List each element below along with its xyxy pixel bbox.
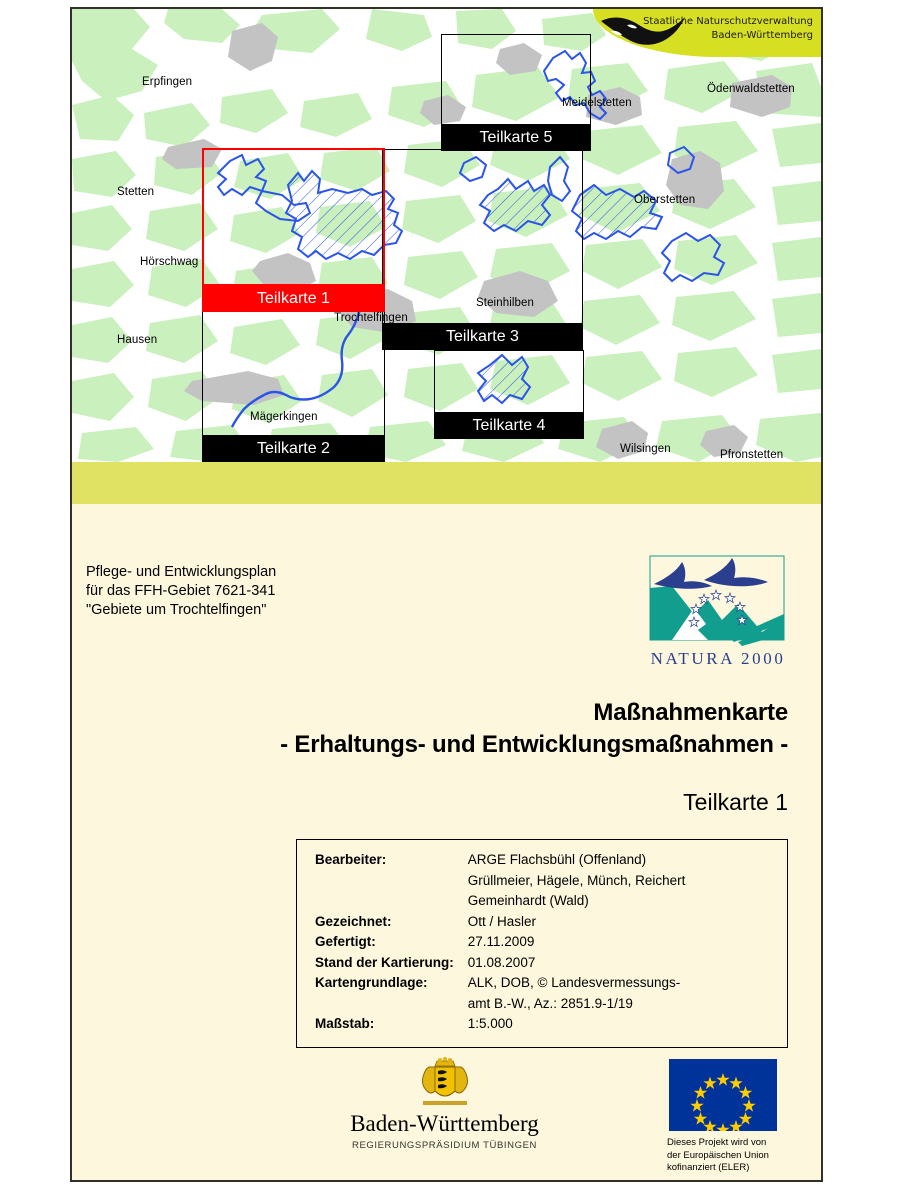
meta-value: ARGE Flachsbühl (Offenland) Grüllmeier, … (468, 850, 686, 912)
map-sheet: Erpfingen Stetten Hörschwag Hausen Troch… (70, 7, 823, 1182)
page-subtitle: - Erhaltungs- und Entwicklungsmaßnahmen … (72, 729, 788, 761)
natura-2000-logo: NATURA 2000 (642, 552, 794, 677)
place-label: Wilsingen (620, 443, 671, 455)
meta-key: Kartengrundlage: (315, 973, 468, 1014)
banner-line-2: Baden-Württemberg (643, 29, 813, 43)
meta-value: 27.11.2009 (468, 932, 686, 953)
meta-value: Ott / Hasler (468, 912, 686, 933)
eu-stars (669, 1059, 777, 1131)
agency-banner: Staatliche Naturschutzverwaltung Baden-W… (593, 9, 821, 57)
overview-map[interactable]: Erpfingen Stetten Hörschwag Hausen Troch… (72, 9, 821, 462)
eu-flag-icon (669, 1059, 777, 1131)
sheet-number: Teilkarte 1 (72, 787, 788, 817)
place-label: Oberstetten (634, 194, 695, 206)
legend-info-box: Bearbeiter: ARGE Flachsbühl (Offenland) … (296, 839, 788, 1048)
place-label: Ödenwaldstetten (707, 83, 795, 95)
natura-wordmark: NATURA 2000 (651, 649, 786, 668)
inset-frame-teilkarte-3[interactable] (382, 149, 583, 324)
meta-key: Gefertigt: (315, 932, 468, 953)
inset-caption-teilkarte-4[interactable]: Teilkarte 4 (434, 413, 584, 439)
table-row: Bearbeiter: ARGE Flachsbühl (Offenland) … (315, 850, 685, 912)
inset-frame-teilkarte-1[interactable] (202, 148, 385, 286)
metadata-table: Bearbeiter: ARGE Flachsbühl (Offenland) … (315, 850, 685, 1035)
table-row: Gezeichnet: Ott / Hasler (315, 912, 685, 933)
meta-key: Bearbeiter: (315, 850, 468, 912)
divider-band (72, 462, 821, 504)
meta-value: ALK, DOB, © Landesvermessungs- amt B.-W.… (468, 973, 686, 1014)
baden-wuerttemberg-logo: Baden-Württemberg REGIERUNGSPRÄSIDIUM TÜ… (337, 1057, 552, 1151)
bw-logo-subtitle: REGIERUNGSPRÄSIDIUM TÜBINGEN (337, 1140, 552, 1151)
eu-funding-logo: Dieses Projekt wird von der Europäischen… (667, 1059, 832, 1175)
bw-logo-name: Baden-Württemberg (337, 1111, 552, 1137)
inset-caption-teilkarte-1[interactable]: Teilkarte 1 (202, 286, 385, 312)
place-label: Erpfingen (142, 76, 192, 88)
meta-key: Stand der Kartierung: (315, 953, 468, 974)
inset-caption-teilkarte-5[interactable]: Teilkarte 5 (441, 125, 591, 151)
table-row: Stand der Kartierung: 01.08.2007 (315, 953, 685, 974)
inset-frame-teilkarte-4[interactable] (434, 350, 584, 413)
place-label: Pfronstetten (720, 449, 783, 461)
banner-text: Staatliche Naturschutzverwaltung Baden-W… (643, 15, 813, 43)
meta-value: 1:5.000 (468, 1014, 686, 1035)
meta-key: Maßstab: (315, 1014, 468, 1035)
plan-caption: Pflege- und Entwicklungsplan für das FFH… (86, 563, 276, 620)
place-label: Stetten (117, 186, 154, 198)
table-row: Gefertigt: 27.11.2009 (315, 932, 685, 953)
table-row: Maßstab: 1:5.000 (315, 1014, 685, 1035)
inset-caption-teilkarte-2[interactable]: Teilkarte 2 (202, 436, 385, 462)
place-label: Hörschwag (140, 256, 198, 268)
page-title: Maßnahmenkarte (72, 697, 788, 729)
title-block: Maßnahmenkarte - Erhaltungs- und Entwick… (72, 697, 788, 817)
eu-funding-caption: Dieses Projekt wird von der Europäischen… (667, 1137, 832, 1175)
table-row: Kartengrundlage: ALK, DOB, © Landesverme… (315, 973, 685, 1014)
coat-of-arms-icon (409, 1057, 481, 1109)
meta-key: Gezeichnet: (315, 912, 468, 933)
meta-value: 01.08.2007 (468, 953, 686, 974)
banner-line-1: Staatliche Naturschutzverwaltung (643, 15, 813, 29)
inset-frame-teilkarte-2[interactable] (202, 311, 385, 436)
place-label: Hausen (117, 334, 157, 346)
natura-2000-graphic: NATURA 2000 (642, 552, 794, 677)
inset-frame-teilkarte-5[interactable] (441, 34, 591, 125)
inset-caption-teilkarte-3[interactable]: Teilkarte 3 (382, 324, 583, 350)
